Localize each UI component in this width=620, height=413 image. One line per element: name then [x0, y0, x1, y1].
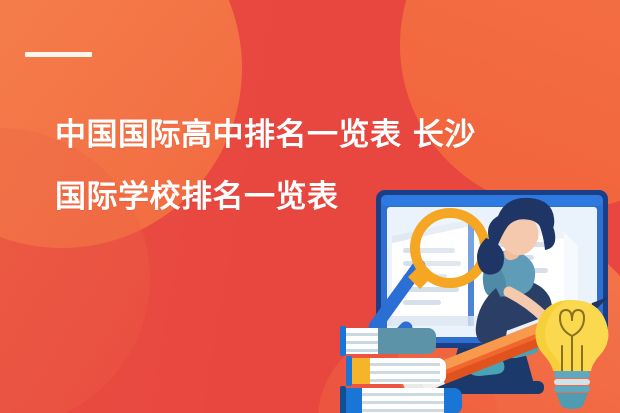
title-rule — [25, 52, 92, 57]
page-title-line-2: 国际学校排名一览表 — [55, 179, 339, 215]
page-title-line-1: 中国国际高中排名一览表 长沙 — [55, 117, 476, 153]
online-learning-illustration — [340, 176, 620, 413]
promo-banner: 中国国际高中排名一览表 长沙 国际学校排名一览表 — [0, 0, 620, 413]
idea-lightbulb-icon — [536, 300, 609, 409]
